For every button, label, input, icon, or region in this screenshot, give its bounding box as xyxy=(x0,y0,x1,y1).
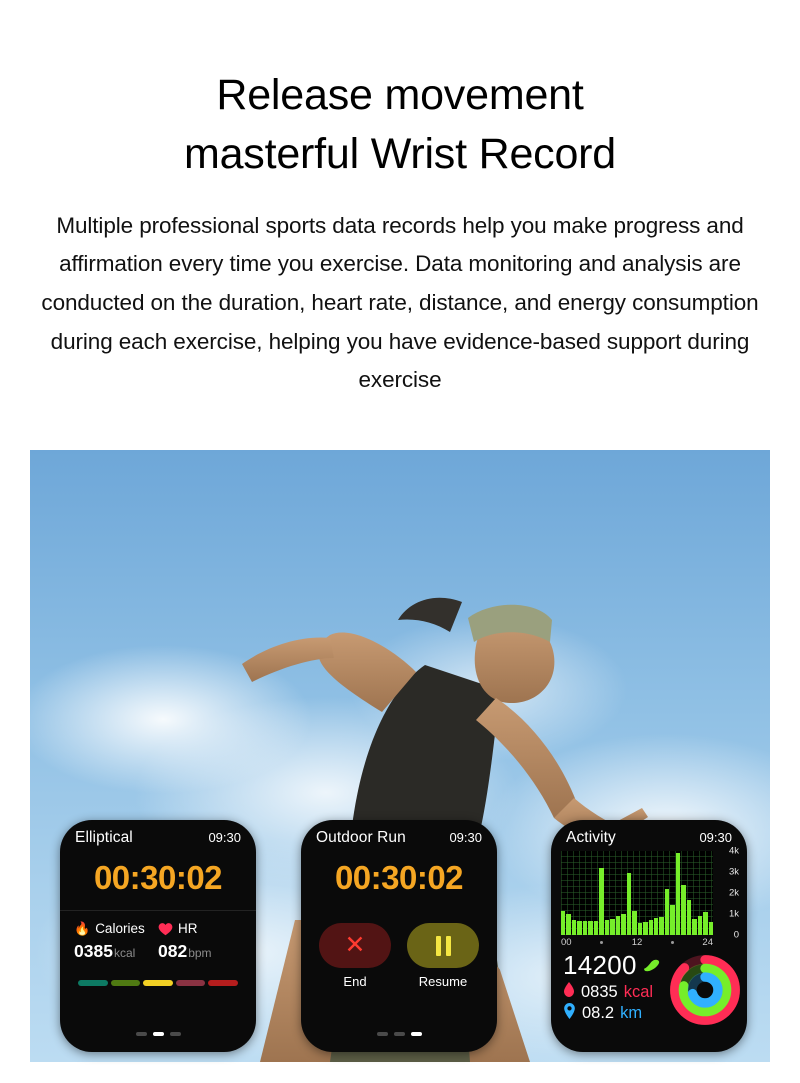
metric-heart-rate[interactable]: HR 082bpm xyxy=(158,921,242,962)
metric-hr-unit: bpm xyxy=(188,946,211,960)
y-tick-1k: 1k xyxy=(729,909,739,920)
hr-zone-segment-2 xyxy=(143,980,173,986)
pause-icon xyxy=(436,936,451,956)
chart-y-axis: 01k2k3k4k xyxy=(713,851,741,935)
activity-stats: 14200 0835 kcal 08.2 km xyxy=(551,948,747,1024)
chart-bar xyxy=(654,918,658,935)
metric-hr-value-row: 082bpm xyxy=(158,941,242,962)
resume-button[interactable]: Resume xyxy=(407,923,479,989)
chart-bar xyxy=(632,911,636,935)
shoe-icon xyxy=(642,950,660,981)
activity-bar-chart: 01k2k3k4k xyxy=(551,851,747,935)
chart-bar xyxy=(665,889,669,935)
resume-button-label: Resume xyxy=(407,974,479,989)
hr-zone-segment-0 xyxy=(78,980,108,986)
workout-actions: ✕ End Resume xyxy=(301,923,497,989)
page-dot-2[interactable] xyxy=(170,1032,181,1036)
elapsed-timer: 00:30:02 xyxy=(60,859,256,897)
activity-rings[interactable] xyxy=(669,954,741,1026)
chart-bar xyxy=(670,905,674,935)
hr-zone-segment-3 xyxy=(176,980,206,986)
y-tick-2k: 2k xyxy=(729,888,739,899)
page-indicator-card-2[interactable] xyxy=(301,1032,497,1036)
chart-bar xyxy=(676,853,680,935)
chart-plot-area xyxy=(561,851,713,935)
hr-zone-bar xyxy=(78,980,238,986)
chart-bar xyxy=(577,921,581,935)
end-button[interactable]: ✕ End xyxy=(319,923,391,989)
metric-calories-label-row: 🔥 Calories xyxy=(74,921,158,936)
x-tick-12: 12 xyxy=(632,937,643,948)
chart-bar xyxy=(561,911,565,935)
x-tick-00: 00 xyxy=(561,937,572,948)
chart-bar xyxy=(659,917,663,935)
chart-bar xyxy=(698,916,702,935)
page-dot-0[interactable] xyxy=(136,1032,147,1036)
chart-bar xyxy=(572,920,576,935)
clock-time: 09:30 xyxy=(699,830,732,845)
card-header: Elliptical 09:30 xyxy=(60,820,256,847)
card-header: Outdoor Run 09:30 xyxy=(301,820,497,847)
watch-card-outdoor-run[interactable]: Outdoor Run 09:30 00:30:02 ✕ End Resume xyxy=(301,820,497,1052)
metric-calories-label: Calories xyxy=(95,921,145,936)
chart-bar xyxy=(566,914,570,935)
flame-icon: 🔥 xyxy=(74,922,90,935)
page-dot-1[interactable] xyxy=(394,1032,405,1036)
calories-value: 0835 xyxy=(581,983,618,1002)
distance-value: 08.2 xyxy=(582,1004,614,1023)
y-tick-3k: 3k xyxy=(729,867,739,878)
workout-title: Outdoor Run xyxy=(316,829,406,847)
metric-calories-value-row: 0385kcal xyxy=(74,941,158,962)
page-description: Multiple professional sports data record… xyxy=(40,207,760,400)
hr-zone-segment-4 xyxy=(208,980,238,986)
chart-bar xyxy=(594,921,598,935)
chart-bar xyxy=(583,921,587,935)
distance-unit: km xyxy=(620,1004,642,1023)
page-dot-2[interactable] xyxy=(411,1032,422,1036)
page-dot-0[interactable] xyxy=(377,1032,388,1036)
metrics-row: 🔥 Calories 0385kcal HR 082bpm xyxy=(60,911,256,962)
chart-bar xyxy=(627,873,631,935)
chart-bar xyxy=(638,923,642,935)
metric-calories[interactable]: 🔥 Calories 0385kcal xyxy=(74,921,158,962)
chart-bar xyxy=(588,921,592,935)
drop-icon xyxy=(563,982,575,1002)
chart-bar xyxy=(649,920,653,935)
x-tick-24: 24 xyxy=(702,937,713,948)
chart-bar xyxy=(692,919,696,935)
chart-bar xyxy=(643,922,647,935)
chart-x-axis: 001224 xyxy=(561,937,713,948)
clock-time: 09:30 xyxy=(449,830,482,845)
metric-calories-unit: kcal xyxy=(114,946,135,960)
chart-bar xyxy=(605,920,609,935)
page-title-line-2: masterful Wrist Record xyxy=(0,125,800,184)
chart-bar xyxy=(621,914,625,935)
end-button-pill[interactable]: ✕ xyxy=(319,923,391,968)
heart-icon xyxy=(158,922,173,936)
page-title: Release movement masterful Wrist Record xyxy=(0,0,800,185)
chart-bar xyxy=(681,885,685,935)
metric-hr-label-row: HR xyxy=(158,921,242,936)
steps-value: 14200 xyxy=(563,950,637,981)
chart-bar xyxy=(703,912,707,935)
workout-title: Elliptical xyxy=(75,829,133,847)
metric-calories-value: 0385 xyxy=(74,941,113,961)
x-tick-dot xyxy=(600,941,603,944)
resume-button-pill[interactable] xyxy=(407,923,479,968)
chart-bar xyxy=(599,868,603,935)
activity-title: Activity xyxy=(566,829,616,847)
elapsed-timer: 00:30:02 xyxy=(301,859,497,897)
clock-time: 09:30 xyxy=(208,830,241,845)
chart-bar xyxy=(610,919,614,935)
hr-zone-segment-1 xyxy=(111,980,141,986)
metric-hr-label: HR xyxy=(178,921,198,936)
y-tick-4k: 4k xyxy=(729,846,739,857)
page-dot-1[interactable] xyxy=(153,1032,164,1036)
watch-card-elliptical[interactable]: Elliptical 09:30 00:30:02 🔥 Calories 038… xyxy=(60,820,256,1052)
close-icon: ✕ xyxy=(345,933,366,958)
calories-unit: kcal xyxy=(624,983,653,1002)
y-tick-0: 0 xyxy=(734,930,739,941)
x-tick-dot xyxy=(671,941,674,944)
chart-bar xyxy=(687,900,691,935)
chart-bar xyxy=(616,916,620,935)
page-title-line-1: Release movement xyxy=(0,66,800,125)
end-button-label: End xyxy=(319,974,391,989)
card-header: Activity 09:30 xyxy=(551,820,747,847)
page-indicator-card-1[interactable] xyxy=(60,1032,256,1036)
metric-hr-value: 082 xyxy=(158,941,187,961)
watch-card-activity[interactable]: Activity 09:30 01k2k3k4k 001224 14200 08… xyxy=(551,820,747,1052)
pin-icon xyxy=(563,1003,576,1024)
